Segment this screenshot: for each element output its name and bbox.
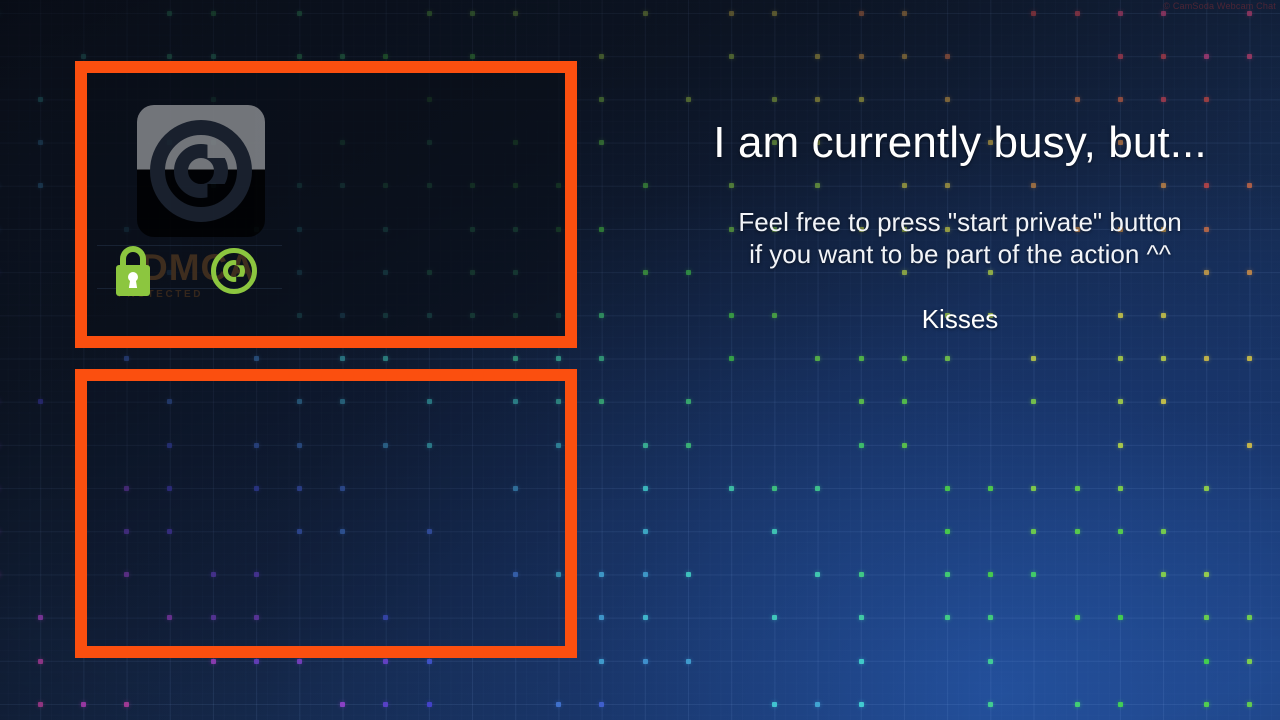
message-panel: I am currently busy, but... Feel free to…	[640, 0, 1280, 720]
message-body-line-2: if you want to be part of the action ^^	[640, 239, 1280, 270]
copyright-icon-inner	[223, 260, 245, 282]
copyright-placeholder-icon	[137, 105, 265, 237]
dmca-protected-badge: DMCA PROTECTED	[115, 244, 305, 302]
message-signoff: Kisses	[640, 304, 1280, 335]
page-title: I am currently busy, but...	[640, 118, 1280, 168]
padlock-icon	[115, 244, 151, 296]
video-frame-top[interactable]: DMCA PROTECTED	[75, 61, 577, 348]
screen-root: DMCA PROTECTED I am currently busy, but.…	[0, 0, 1280, 720]
message-body-line-1: Feel free to press "start private" butto…	[640, 207, 1280, 238]
copyright-icon	[211, 248, 257, 294]
corner-watermark: © CamSoda Webcam Chat	[1163, 1, 1276, 11]
video-frame-bottom[interactable]	[75, 369, 577, 658]
